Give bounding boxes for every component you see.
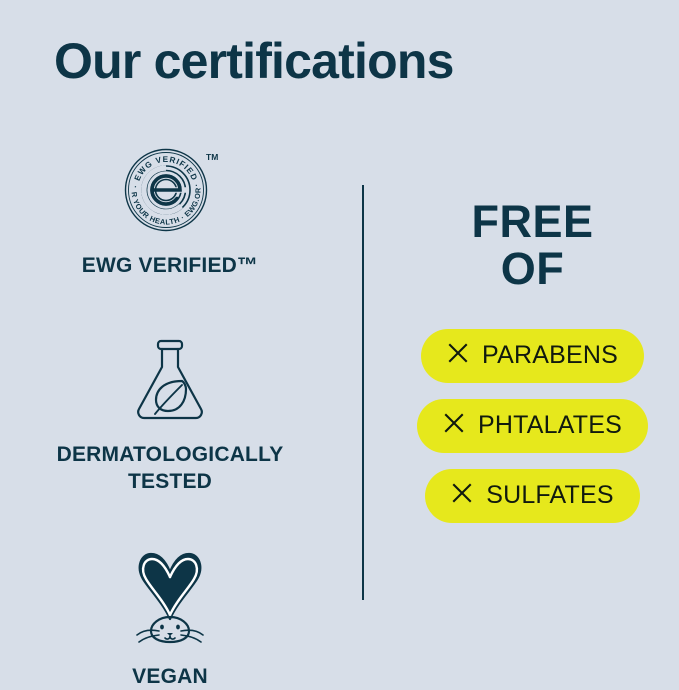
certifications-column: · EWG VERIFIED · · FOR YOUR HEALTH · EWG… xyxy=(0,120,340,660)
free-of-item-parabens: PARABENS xyxy=(421,329,644,383)
x-icon xyxy=(447,342,469,369)
page-title: Our certifications xyxy=(54,34,454,89)
free-of-item-phtalates: PHTALATES xyxy=(417,399,648,453)
certification-vegan: VEGAN xyxy=(119,543,221,690)
bunny-heart-ears-icon xyxy=(119,543,221,650)
divider-container xyxy=(340,120,386,660)
x-icon xyxy=(443,412,465,439)
flask-with-leaf-icon xyxy=(131,337,209,428)
certification-dermatologically-tested: DERMATOLOGICALLY TESTED xyxy=(57,337,284,495)
certification-label-dermatologically-tested: DERMATOLOGICALLY TESTED xyxy=(57,442,284,495)
certification-label-vegan: VEGAN xyxy=(132,664,208,690)
x-icon xyxy=(451,482,473,509)
content-columns: · EWG VERIFIED · · FOR YOUR HEALTH · EWG… xyxy=(0,120,679,660)
certification-ewg-verified: · EWG VERIFIED · · FOR YOUR HEALTH · EWG… xyxy=(82,142,258,279)
seal-trademark-text: TM xyxy=(206,152,218,162)
free-of-label-phtalates: PHTALATES xyxy=(478,411,622,440)
svg-text:· EWG VERIFIED ·: · EWG VERIFIED · xyxy=(131,155,201,188)
free-of-column: FREE OF PARABENS xyxy=(386,120,679,660)
certification-label-ewg-verified: EWG VERIFIED™ xyxy=(82,253,258,279)
free-of-title: FREE OF xyxy=(471,198,593,293)
free-of-list: PARABENS PHTALATES xyxy=(417,329,648,523)
vertical-divider xyxy=(362,185,364,600)
free-of-item-sulfates: SULFATES xyxy=(425,469,640,523)
free-of-label-sulfates: SULFATES xyxy=(486,481,614,510)
free-of-label-parabens: PARABENS xyxy=(482,341,618,370)
certifications-page: Our certifications xyxy=(0,0,679,679)
ewg-verified-seal-icon: · EWG VERIFIED · · FOR YOUR HEALTH · EWG… xyxy=(118,142,222,239)
